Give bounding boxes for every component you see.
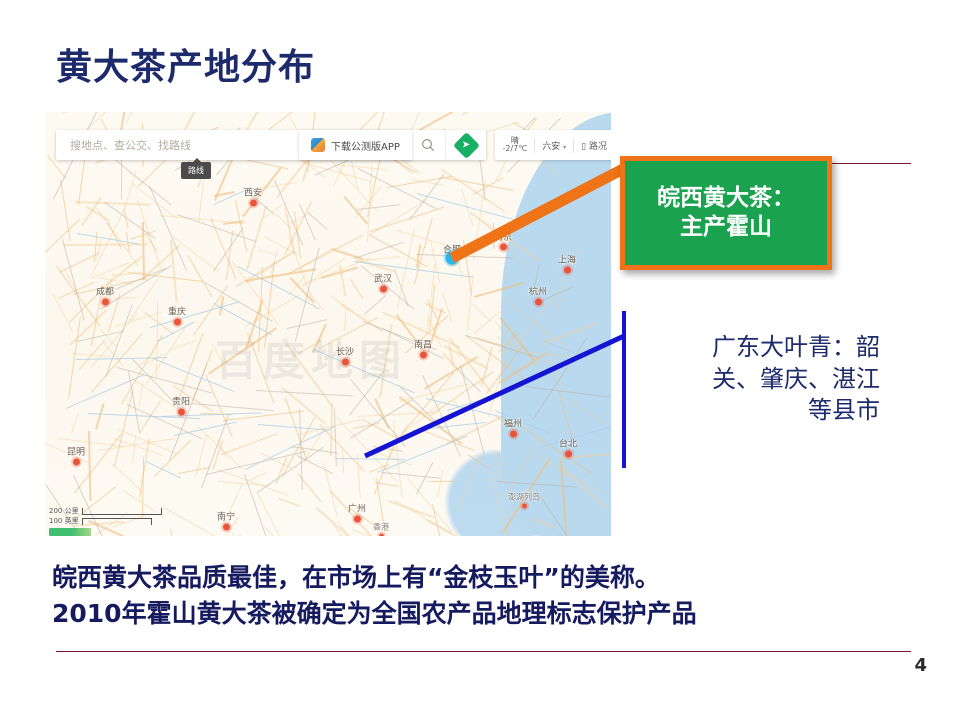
blue-callout-line1: 广东大叶青：韶: [690, 332, 880, 364]
map-city-dot: [173, 319, 180, 326]
divider: [573, 138, 574, 153]
map-city-label: 成都: [96, 285, 114, 298]
map-city-label: 澎湖列岛: [508, 492, 540, 503]
map-city-label: 昆明: [67, 445, 85, 458]
body-line-2: 2010年霍山黄大茶被确定为全国农产品地理标志保护产品: [52, 596, 932, 632]
map-city-label: 香港: [373, 522, 389, 533]
blue-callout-line3: 等县市: [690, 395, 880, 427]
body-line-1: 皖西黄大茶品质最佳，在市场上有“金枝玉叶”的美称。: [52, 560, 932, 596]
map-city-label: 长沙: [336, 345, 354, 358]
map-image[interactable]: 百度地图 成都重庆贵阳昆明武汉长沙南昌西安合肥南京上海杭州福州广州南宁香港台北澎…: [45, 112, 611, 536]
blue-callout-text: 广东大叶青：韶 关、肇庆、湛江 等县市: [690, 332, 880, 427]
map-logo: [49, 528, 91, 536]
map-city-dot: [222, 524, 229, 531]
map-city-label: 上海: [558, 253, 576, 266]
map-city-label: 贵阳: [172, 395, 190, 408]
map-city-dot: [177, 409, 184, 416]
map-city-南昌[interactable]: 南昌: [414, 338, 432, 359]
map-city-label: 广州: [348, 502, 366, 515]
map-city-dot: [534, 299, 541, 306]
map-city-成都[interactable]: 成都: [96, 285, 114, 306]
map-city-dot: [353, 516, 360, 523]
map-city-广州[interactable]: 广州: [348, 502, 366, 523]
map-city-香港[interactable]: 香港: [373, 522, 389, 537]
map-city-dot: [341, 359, 348, 366]
green-callout-line2: 主产霍山: [680, 213, 772, 242]
map-city-dot: [249, 200, 256, 207]
route-button[interactable]: ➤: [445, 130, 486, 160]
city-selector-label: 六安: [542, 142, 560, 152]
download-app-label: 下载公测版APP: [331, 138, 400, 153]
map-city-dot: [379, 286, 386, 293]
map-city-武汉[interactable]: 武汉: [374, 272, 392, 293]
map-city-dot: [101, 299, 108, 306]
map-city-label: 武汉: [374, 272, 392, 285]
huoshan-marker: [446, 252, 459, 265]
scale-km-bar: [82, 508, 162, 515]
map-city-福州[interactable]: 福州: [504, 417, 522, 438]
map-city-南京[interactable]: 南京: [494, 230, 512, 251]
scale-mi-bar: [82, 518, 152, 525]
scale-mi-label: 100 英里: [49, 516, 79, 526]
green-callout-line1: 皖西黄大茶：: [657, 184, 795, 213]
map-city-贵阳[interactable]: 贵阳: [172, 395, 190, 416]
route-tooltip: 路线: [181, 162, 211, 179]
map-city-dot: [499, 244, 506, 251]
map-city-dot: [522, 504, 527, 509]
green-callout-box: 皖西黄大茶： 主产霍山: [620, 156, 832, 270]
map-city-label: 西安: [244, 186, 262, 199]
map-city-label: 福州: [504, 417, 522, 430]
map-city-重庆[interactable]: 重庆: [168, 305, 186, 326]
divider: [534, 138, 535, 153]
map-scale-bar: 200 公里 100 英里: [49, 506, 162, 526]
map-city-dot: [509, 431, 516, 438]
map-city-长沙[interactable]: 长沙: [336, 345, 354, 366]
map-city-label: 南昌: [414, 338, 432, 351]
slide-root: 黄大茶产地分布 百度地图 成都重庆贵阳昆明武汉长沙南昌西安合肥南京上海杭州福州广…: [0, 0, 960, 720]
map-city-台北[interactable]: 台北: [559, 437, 577, 458]
map-search-bar[interactable]: 搜地点、查公交、找路线 ➤: [56, 130, 486, 160]
decorative-rule-bottom: [56, 651, 911, 652]
weather-widget[interactable]: 晴 -2/7℃: [503, 137, 528, 154]
map-city-昆明[interactable]: 昆明: [67, 445, 85, 466]
scale-km-label: 200 公里: [49, 506, 79, 516]
map-city-dot: [563, 267, 570, 274]
map-city-label: 台北: [559, 437, 577, 450]
map-city-上海[interactable]: 上海: [558, 253, 576, 274]
traffic-icon: ▯: [581, 142, 586, 152]
map-city-label: 南宁: [217, 510, 235, 523]
city-selector[interactable]: 六安 ▾: [542, 139, 566, 152]
blue-callout-bar: [622, 311, 626, 468]
map-city-南宁[interactable]: 南宁: [217, 510, 235, 531]
chevron-down-icon: ▾: [563, 144, 566, 151]
map-city-澎湖列岛[interactable]: 澎湖列岛: [508, 492, 540, 509]
map-city-label: 南京: [494, 230, 512, 243]
download-app-button[interactable]: 下载公测版APP: [299, 130, 412, 160]
route-arrow-icon: ➤: [453, 132, 480, 159]
map-city-dot: [564, 451, 571, 458]
map-city-杭州[interactable]: 杭州: [529, 285, 547, 306]
map-city-西安[interactable]: 西安: [244, 186, 262, 207]
map-city-label: 杭州: [529, 285, 547, 298]
app-logo-icon: [311, 138, 325, 152]
map-city-dot: [419, 352, 426, 359]
map-city-dot: [379, 534, 384, 537]
map-top-right-bar[interactable]: 晴 -2/7℃ 六安 ▾ ▯ 路况: [495, 130, 612, 160]
map-city-label: 重庆: [168, 305, 186, 318]
weather-temperature: -2/7℃: [503, 145, 528, 153]
body-text: 皖西黄大茶品质最佳，在市场上有“金枝玉叶”的美称。 2010年霍山黄大茶被确定为…: [52, 560, 932, 633]
traffic-label: 路况: [589, 142, 607, 152]
page-title: 黄大茶产地分布: [56, 38, 315, 90]
map-city-dot: [72, 459, 79, 466]
page-number: 4: [914, 655, 927, 676]
traffic-toggle[interactable]: ▯ 路况: [581, 139, 607, 152]
blue-callout-line2: 关、肇庆、湛江: [690, 364, 880, 396]
search-icon[interactable]: [411, 138, 445, 152]
